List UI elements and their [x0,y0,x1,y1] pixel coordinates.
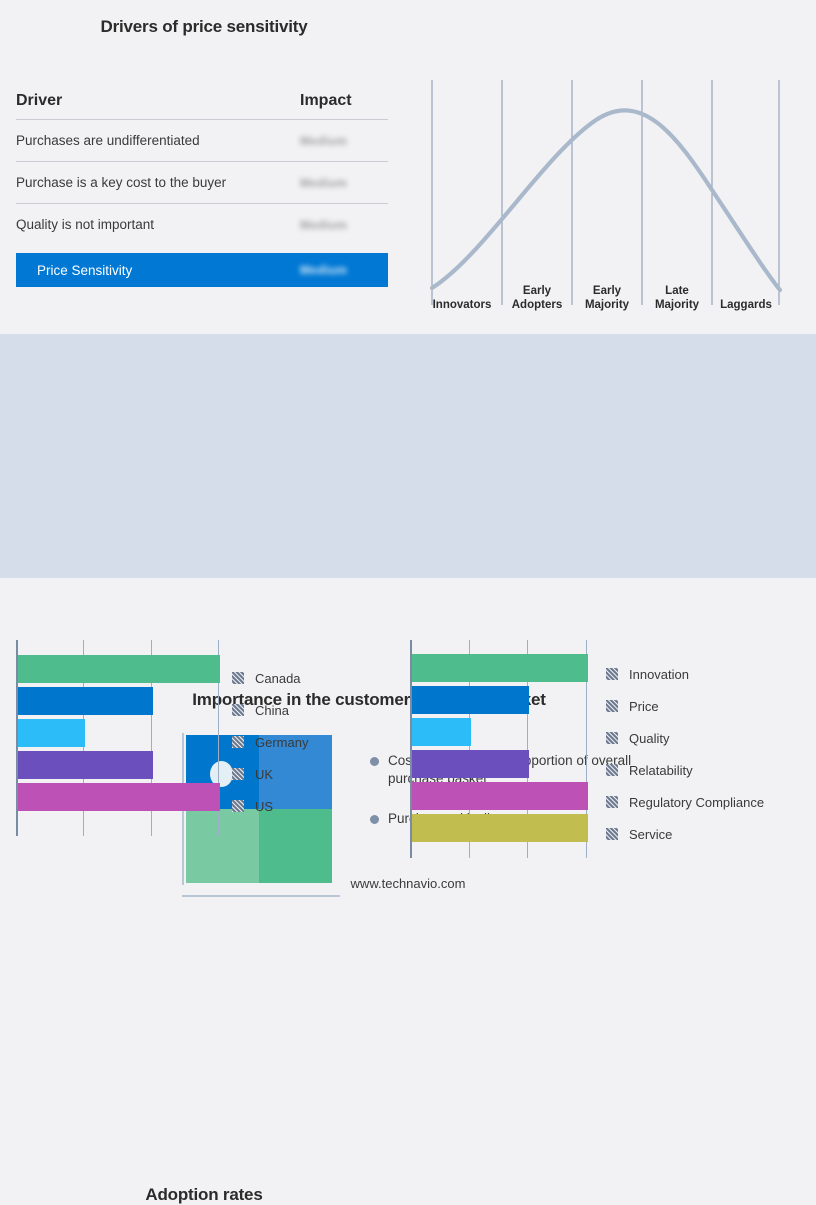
stage-line2: Majority [655,299,699,311]
driver-cell: Quality is not important [16,217,300,232]
drivers-title: Drivers of price sensitivity [0,17,408,37]
legend-swatch-icon [606,700,618,712]
bar-quality [412,718,471,746]
legend-label: Innovation [629,667,689,682]
bar-price [412,686,529,714]
legend-item: UK [232,758,308,790]
legend-swatch-icon [232,768,244,780]
table-row: Purchase is a key cost to the buyer Medi… [16,162,388,203]
stage-label-late-majority: Late Majority [642,284,712,312]
stage-line1: Early [523,285,551,297]
stage-label-early-adopters: Early Adopters [502,284,572,312]
bar-service [412,814,588,842]
legend-item: Germany [232,726,308,758]
bar-regulatory-compliance [412,782,588,810]
column-header-driver: Driver [16,92,300,110]
bar-canada [18,655,220,683]
legend-label: US [255,799,273,814]
legend-swatch-icon [232,736,244,748]
lifecycle-stage-labels: Innovators Early Adopters Early Majority… [424,272,800,312]
summary-impact-cell: Medium [300,261,388,279]
legend-item: Relatability [606,754,764,786]
legend-item: Regulatory Compliance [606,786,764,818]
stage-label-innovators: Innovators [424,284,500,312]
impact-value-redacted: Medium [300,134,347,148]
key-criteria-chart: InnovationPriceQualityRelatabilityRegula… [410,640,810,870]
legend-item: Price [606,690,764,722]
legend-swatch-icon [606,668,618,680]
driver-cell: Purchases are undifferentiated [16,133,300,148]
adoption-rates-chart: CanadaChinaGermanyUKUS [16,640,396,848]
impact-value-redacted: Medium [300,218,347,232]
legend-item: Quality [606,722,764,754]
stage-line1: Late [665,285,689,297]
table-row: Purchases are undifferentiated Medium [16,120,388,161]
criteria-legend: InnovationPriceQualityRelatabilityRegula… [606,658,764,850]
stage-line2: Majority [585,299,629,311]
table-header-row: Driver Impact [16,92,388,119]
stage-line2: Adopters [512,299,562,311]
adoption-rates-title: Adoption rates [0,1185,408,1205]
legend-label: Relatability [629,763,693,778]
matrix-horizontal-axis [182,895,340,897]
legend-swatch-icon [232,672,244,684]
impact-value-redacted: Medium [300,176,347,190]
drivers-panel: Drivers of price sensitivity Driver Impa… [0,0,408,334]
impact-cell: Medium [300,174,388,192]
adoption-plot-area [16,640,224,836]
drivers-table: Driver Impact Purchases are undifferenti… [16,92,388,287]
bar-innovation [412,654,588,682]
stage-label-early-majority: Early Majority [572,284,642,312]
bar-relatability [412,750,529,778]
lifecycle-panel: Adoption lifecycle Innovators Early Adop… [408,0,816,334]
summary-label: Price Sensitivity [37,263,300,278]
adoption-curve [432,110,780,290]
impact-cell: Medium [300,216,388,234]
summary-impact-redacted: Medium [300,263,347,277]
legend-label: China [255,703,289,718]
table-row: Quality is not important Medium [16,204,388,245]
legend-item: Service [606,818,764,850]
legend-label: Regulatory Compliance [629,795,764,810]
legend-label: Germany [255,735,308,750]
legend-swatch-icon [606,732,618,744]
legend-swatch-icon [232,800,244,812]
price-sensitivity-summary-row: Price Sensitivity Medium [16,253,388,287]
legend-label: UK [255,767,273,782]
impact-cell: Medium [300,132,388,150]
legend-swatch-icon [232,704,244,716]
legend-label: Price [629,699,659,714]
legend-swatch-icon [606,828,618,840]
stage-line2: Laggards [720,299,772,311]
legend-item: US [232,790,308,822]
column-header-impact: Impact [300,92,388,110]
legend-label: Quality [629,731,669,746]
footer-url: www.technavio.com [0,876,816,891]
legend-label: Canada [255,671,301,686]
stage-label-laggards: Laggards [713,284,779,312]
legend-label: Service [629,827,672,842]
criteria-plot-area [410,640,592,858]
legend-item: Canada [232,662,308,694]
stage-line1: Early [593,285,621,297]
bar-china [18,687,153,715]
legend-swatch-icon [606,764,618,776]
adoption-legend: CanadaChinaGermanyUKUS [232,662,308,822]
legend-item: Innovation [606,658,764,690]
legend-swatch-icon [606,796,618,808]
bar-us [18,783,220,811]
driver-cell: Purchase is a key cost to the buyer [16,175,300,190]
legend-item: China [232,694,308,726]
basket-panel: Importance in the customer purchase bask… [0,334,816,578]
bar-uk [18,751,153,779]
stage-line2: Innovators [433,299,492,311]
bar-germany [18,719,85,747]
